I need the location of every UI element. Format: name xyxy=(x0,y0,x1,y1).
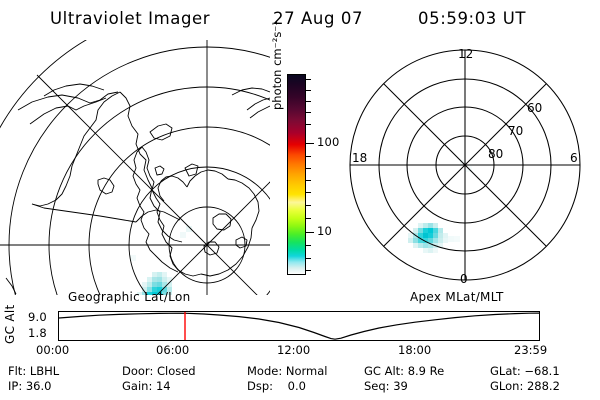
strip-chart-ylabel: GC Alt xyxy=(4,310,16,344)
coastline-antarctica xyxy=(6,88,270,294)
altitude-trace xyxy=(59,313,539,339)
status-gc-alt: GC Alt: 8.9 Re xyxy=(364,364,444,378)
geographic-plot-caption: Geographic Lat/Lon xyxy=(68,291,191,303)
colorbar[interactable] xyxy=(287,74,306,275)
colorbar-tick xyxy=(306,101,311,102)
status-ip: IP: 36.0 xyxy=(8,379,51,393)
colorbar-tick xyxy=(306,112,311,113)
geographic-plot[interactable] xyxy=(0,40,270,295)
colorbar-tick-10 xyxy=(306,232,314,233)
mlt-label-0: 0 xyxy=(460,272,468,286)
aurora-emission-patch-apex xyxy=(408,160,472,253)
colorbar-axis-title: photon cm⁻²s⁻¹ xyxy=(270,94,284,110)
apex-plot-caption: Apex MLat/MLT xyxy=(410,291,504,303)
observation-date: 27 Aug 07 xyxy=(273,11,363,28)
strip-xtick-1200: 12:00 xyxy=(277,345,310,357)
colorbar-tick xyxy=(306,180,311,181)
status-dsp: Dsp: 0.0 xyxy=(247,379,306,393)
strip-xtick-0600: 06:00 xyxy=(156,345,189,357)
uvi-display: Ultraviolet Imager 27 Aug 07 05:59:03 UT xyxy=(0,0,600,400)
header-bar: Ultraviolet Imager 27 Aug 07 05:59:03 UT xyxy=(0,8,600,34)
apex-polar-grid xyxy=(350,50,580,280)
status-door: Door: Closed xyxy=(122,364,196,378)
colorbar-tick xyxy=(306,218,311,219)
strip-chart-svg xyxy=(59,312,539,340)
apex-polar-plot[interactable]: 12 18 6 0 60 70 80 xyxy=(330,40,600,295)
mlat-label-60: 60 xyxy=(527,101,542,115)
colorbar-tick xyxy=(306,205,311,206)
strip-xtick-0000: 00:00 xyxy=(36,345,69,357)
strip-chart[interactable] xyxy=(58,311,540,341)
colorbar-gradient xyxy=(288,75,305,274)
strip-chart-ymax-label: 9.0 xyxy=(28,312,47,324)
strip-xtick-1800: 18:00 xyxy=(398,345,431,357)
status-filter: Flt: LBHL xyxy=(8,364,59,378)
strip-xtick-2359: 23:59 xyxy=(514,345,547,357)
colorbar-tick xyxy=(306,90,311,91)
colorbar-tick xyxy=(306,270,311,271)
colorbar-tick xyxy=(306,79,311,80)
colorbar-tick xyxy=(306,156,311,157)
status-seq: Seq: 39 xyxy=(364,379,408,393)
mlt-label-6: 6 xyxy=(570,151,578,165)
status-glat: GLat: −68.1 xyxy=(490,364,560,378)
colorbar-tick xyxy=(306,258,311,259)
instrument-title: Ultraviolet Imager xyxy=(50,11,210,28)
colorbar-tick xyxy=(306,192,311,193)
status-glon: GLon: 288.2 xyxy=(490,379,560,393)
apex-polar-svg: 12 18 6 0 60 70 80 xyxy=(330,40,600,295)
status-mode: Mode: Normal xyxy=(247,364,327,378)
colorbar-tick xyxy=(306,124,311,125)
mlat-label-80: 80 xyxy=(488,147,503,161)
mlt-label-12: 12 xyxy=(458,47,473,61)
geographic-plot-svg xyxy=(0,40,270,295)
colorbar-tick xyxy=(306,168,311,169)
strip-chart-ymin-label: 1.8 xyxy=(28,328,47,340)
colorbar-tick-100 xyxy=(306,143,314,144)
mlt-label-18: 18 xyxy=(352,151,367,165)
coastline-south-america xyxy=(18,84,198,242)
observation-time: 05:59:03 UT xyxy=(418,11,526,28)
mlat-label-70: 70 xyxy=(508,124,523,138)
status-gain: Gain: 14 xyxy=(122,379,171,393)
colorbar-tick xyxy=(306,245,311,246)
